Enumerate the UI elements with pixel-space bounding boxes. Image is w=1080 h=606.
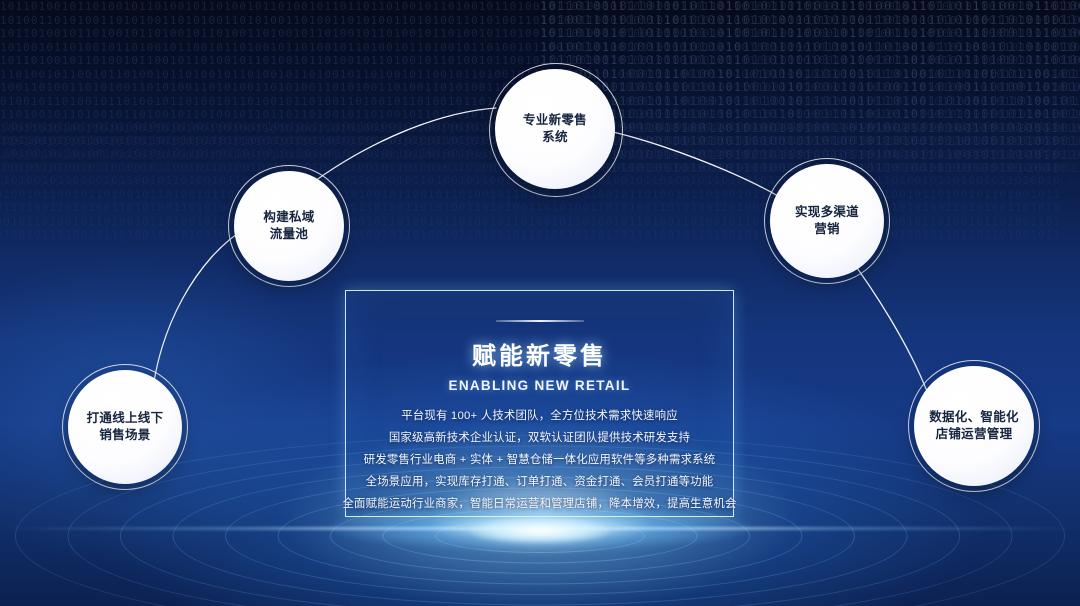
panel-line-3: 研发零售行业电商 + 实体 + 智慧仓储一体化应用软件等多种需求系统 <box>364 451 716 469</box>
panel-line-2: 国家级高新技术企业认证，双软认证团队提供技术研发支持 <box>389 429 690 447</box>
node-left-upper-line2: 流量池 <box>263 226 314 243</box>
panel-divider <box>496 320 584 322</box>
panel-title-en: ENABLING NEW RETAIL <box>449 378 631 393</box>
node-top-center-line1: 专业新零售 <box>523 112 587 129</box>
node-left-lower-line1: 打通线上线下 <box>87 410 164 427</box>
node-right-upper-line2: 营销 <box>795 221 859 238</box>
node-left-upper-label: 构建私域 流量池 <box>255 209 322 243</box>
infographic-stage: 1011010010110100101101001011010010110100… <box>0 0 1080 606</box>
panel-title-cn: 赋能新零售 <box>472 336 607 371</box>
node-right-lower-line1: 数据化、智能化 <box>929 409 1019 426</box>
node-right-lower[interactable]: 数据化、智能化 店铺运营管理 <box>914 366 1034 486</box>
node-right-upper-line1: 实现多渠道 <box>795 204 859 221</box>
node-right-upper[interactable]: 实现多渠道 营销 <box>770 164 884 278</box>
panel-line-5: 全面赋能运动行业商家，智能日常运营和管理店铺，降本增效，提高生意机会 <box>342 495 736 513</box>
node-top-center-label: 专业新零售 系统 <box>515 112 595 146</box>
node-right-lower-line2: 店铺运营管理 <box>929 426 1019 443</box>
node-left-upper[interactable]: 构建私域 流量池 <box>234 171 344 281</box>
node-left-upper-line1: 构建私域 <box>263 209 314 226</box>
node-right-upper-label: 实现多渠道 营销 <box>787 204 867 238</box>
panel-line-1: 平台现有 100+ 人技术团队，全方位技术需求快速响应 <box>401 407 678 425</box>
content-panel: 赋能新零售 ENABLING NEW RETAIL 平台现有 100+ 人技术团… <box>345 290 734 517</box>
panel-line-4: 全场景应用，实现库存打通、订单打通、资金打通、会员打通等功能 <box>366 473 714 491</box>
node-right-lower-label: 数据化、智能化 店铺运营管理 <box>921 409 1027 443</box>
node-left-lower[interactable]: 打通线上线下 销售场景 <box>68 370 182 484</box>
node-left-lower-label: 打通线上线下 销售场景 <box>79 410 172 444</box>
node-top-center[interactable]: 专业新零售 系统 <box>495 69 615 189</box>
panel-body-lines: 平台现有 100+ 人技术团队，全方位技术需求快速响应 国家级高新技术企业认证，… <box>346 407 733 513</box>
node-left-lower-line2: 销售场景 <box>87 427 164 444</box>
node-top-center-line2: 系统 <box>523 129 587 146</box>
